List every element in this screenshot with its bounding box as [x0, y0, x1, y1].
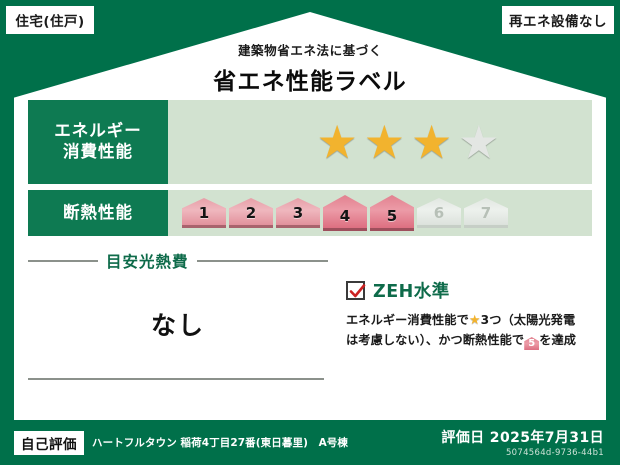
utility-cost-block: 目安光熱費 なし: [28, 248, 328, 398]
inline-star-icon: ★: [469, 313, 481, 328]
insulation-level-1: 1: [182, 198, 226, 228]
divider-right: [197, 260, 328, 262]
divider-left: [28, 260, 98, 262]
tag-building-type: 住宅(住戸): [6, 6, 94, 34]
star-icon-4: ★: [458, 119, 499, 165]
zeh-desc-part2: 3つ（太陽光発電: [481, 313, 576, 327]
star-icon-1: ★: [317, 119, 358, 165]
energy-label-line2: 消費性能: [63, 142, 133, 163]
page-title: 省エネ性能ラベル: [0, 62, 620, 96]
inline-level-badge-icon: 5: [524, 337, 539, 350]
level-value: 7: [481, 204, 491, 222]
insulation-level-scale: 1 2 3 4 5 6 7: [168, 190, 592, 236]
zeh-block: ZEH水準 エネルギー消費性能で★3つ（太陽光発電 は考慮しない）、かつ断熱性能…: [328, 248, 592, 398]
energy-performance-row: エネルギー 消費性能 ★ ★ ★ ★: [28, 100, 592, 184]
insulation-level-2: 2: [229, 198, 273, 228]
title-subtitle: 建築物省エネ法に基づく: [0, 40, 620, 59]
utility-cost-bottom-rule: [28, 378, 324, 380]
zeh-desc-part3: は考慮しない）、かつ断熱性能で: [346, 333, 524, 347]
level-value: 1: [199, 204, 209, 222]
footer-left: 自己評価 ハートフルタウン 稲荷4丁目27番(東日暮里) A号棟: [0, 431, 441, 455]
insulation-level-7: 7: [464, 198, 508, 228]
lower-section: 目安光熱費 なし ZEH水準 エネルギー消費性能で★3つ（太陽光発電: [28, 248, 592, 398]
insulation-performance-row: 断熱性能 1 2 3 4 5 6 7: [28, 190, 592, 236]
check-icon: [349, 283, 366, 300]
insulation-level-5: 5: [370, 195, 414, 231]
zeh-title: ZEH水準: [373, 278, 450, 303]
title-block: 建築物省エネ法に基づく 省エネ性能ラベル: [0, 40, 620, 96]
utility-cost-title: 目安光熱費: [106, 250, 189, 272]
energy-performance-label: エネルギー 消費性能: [28, 100, 168, 184]
energy-label-line1: エネルギー: [54, 121, 142, 142]
insulation-performance-label: 断熱性能: [28, 190, 168, 236]
star-icon-3: ★: [411, 119, 452, 165]
energy-performance-label: 住宅(住戸) 再エネ設備なし 建築物省エネ法に基づく 省エネ性能ラベル エネルギ…: [0, 0, 620, 465]
utility-cost-value: なし: [28, 306, 328, 342]
utility-cost-header: 目安光熱費: [28, 250, 328, 272]
zeh-checkbox[interactable]: [346, 281, 365, 300]
self-evaluation-badge: 自己評価: [14, 431, 84, 455]
label-footer: 自己評価 ハートフルタウン 稲荷4丁目27番(東日暮里) A号棟 評価日 202…: [0, 420, 620, 465]
zeh-description: エネルギー消費性能で★3つ（太陽光発電 は考慮しない）、かつ断熱性能で5を達成: [346, 310, 592, 351]
level-value: 5: [387, 207, 397, 225]
zeh-desc-part4: を達成: [539, 333, 576, 347]
property-name: ハートフルタウン 稲荷4丁目27番(東日暮里) A号棟: [92, 435, 348, 450]
zeh-desc-part1: エネルギー消費性能で: [346, 313, 469, 327]
tag-renewable-energy: 再エネ設備なし: [502, 6, 614, 34]
energy-star-rating: ★ ★ ★ ★: [168, 100, 592, 184]
level-value: 6: [434, 204, 444, 222]
evaluation-date: 評価日 2025年7月31日: [441, 427, 604, 447]
document-id: 5074564d-9736-44b1: [441, 448, 604, 458]
level-value: 4: [340, 207, 350, 225]
label-content: エネルギー 消費性能 ★ ★ ★ ★ 断熱性能 1 2 3 4 5 6: [28, 100, 592, 400]
insulation-level-3: 3: [276, 198, 320, 228]
insulation-level-4: 4: [323, 195, 367, 231]
insulation-label-text: 断熱性能: [63, 203, 133, 224]
footer-right: 評価日 2025年7月31日 5074564d-9736-44b1: [441, 427, 620, 458]
insulation-level-6: 6: [417, 198, 461, 228]
level-value: 2: [246, 204, 256, 222]
star-icon-2: ★: [364, 119, 405, 165]
level-value: 3: [293, 204, 303, 222]
zeh-header: ZEH水準: [346, 278, 592, 303]
